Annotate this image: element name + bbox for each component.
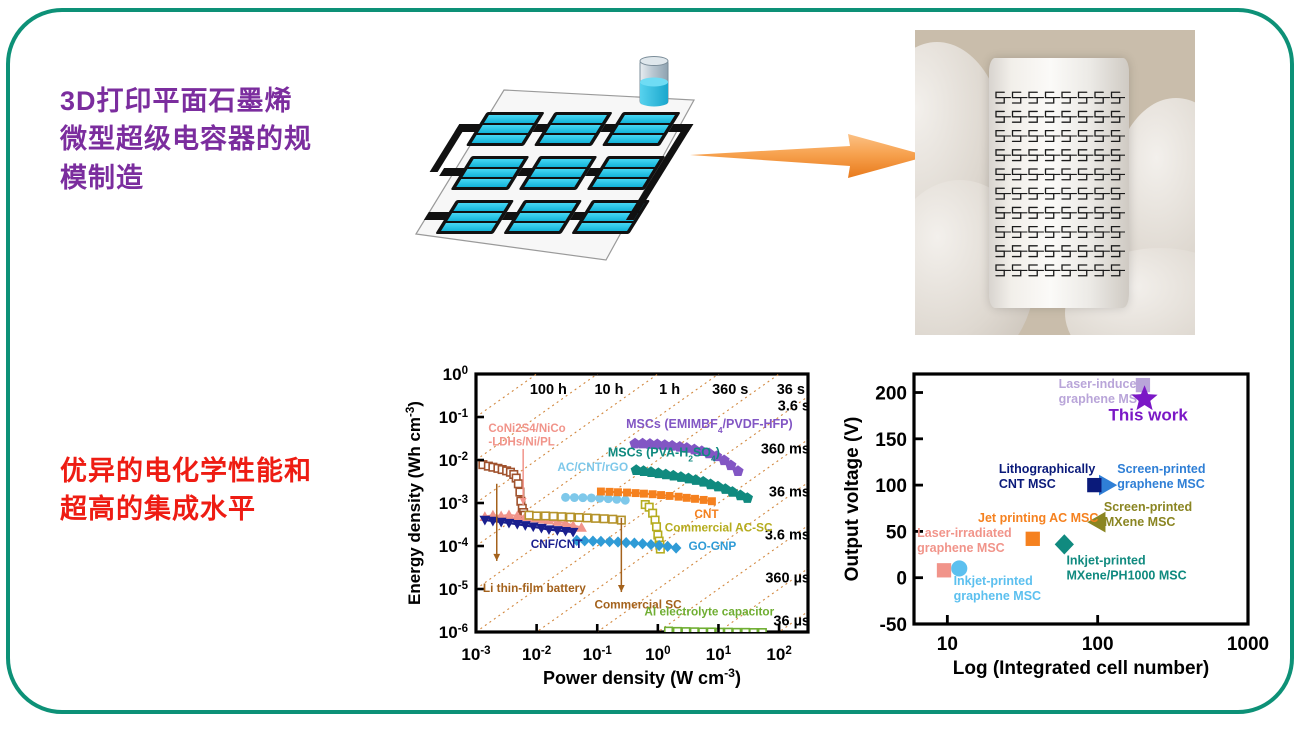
data-point	[657, 491, 665, 499]
annotation-cnt: CNT	[694, 507, 719, 521]
msc-cell-glyph	[1046, 169, 1054, 180]
msc-cell-glyph	[1112, 169, 1120, 180]
data-point	[561, 493, 570, 502]
time-label-top: 100 h	[530, 382, 567, 398]
data-point	[570, 493, 579, 502]
msc-cell-glyph	[1029, 246, 1037, 257]
msc-pattern-row	[996, 227, 1125, 238]
data-point	[567, 513, 574, 520]
msc-cell-glyph	[1062, 150, 1070, 161]
voltage-svg: 101001000-50050100150200Log (Integrated …	[836, 352, 1306, 692]
time-label-right: 36 ms	[769, 484, 810, 500]
time-label-right: 360 µs	[765, 570, 810, 586]
data-point	[691, 628, 698, 635]
msc-pattern-row	[996, 131, 1125, 142]
label-laser-induced-graphene-msc: Laser-induced	[1059, 377, 1144, 391]
label-screen-printed-graphene-msc: graphene MSC	[1117, 477, 1205, 491]
msc-pattern-overlay	[993, 88, 1125, 280]
data-point	[583, 514, 590, 521]
data-point	[700, 496, 708, 504]
label-lithographically-cnt-msc: Lithographically	[999, 462, 1096, 476]
msc-cell-glyph	[1013, 207, 1021, 218]
label-screen-printed-mxene-msc: MXene MSC	[1104, 515, 1176, 529]
data-point	[575, 514, 582, 521]
annotation-coni2s4-nico-ldhs-ni-pl-2: -LDHs/Ni/PL	[488, 436, 554, 448]
msc-cell-glyph	[996, 92, 1004, 103]
msc-pattern-row	[996, 92, 1125, 103]
msc-cell-glyph	[1112, 227, 1120, 238]
data-point	[623, 489, 631, 497]
msc-pattern-row	[996, 207, 1125, 218]
msc-cell-glyph	[1029, 207, 1037, 218]
msc-cell-glyph	[996, 169, 1004, 180]
subheadline-chinese: 优异的电化学性能和 超高的集成水平	[60, 452, 420, 529]
msc-cell-glyph	[1062, 92, 1070, 103]
label-inkjet-printed-mxene-ph1000-msc: MXene/PH1000 MSC	[1066, 569, 1186, 583]
time-label-top: 360 s	[712, 382, 748, 398]
msc-cell-glyph	[1079, 265, 1087, 276]
process-arrow	[690, 128, 940, 184]
msc-cell-glyph	[1079, 150, 1087, 161]
msc-cell-glyph	[1029, 92, 1037, 103]
msc-cell-glyph	[1029, 111, 1037, 122]
msc-cell-group	[404, 112, 704, 234]
msc-cell-glyph	[1095, 265, 1103, 276]
point-lithographically-cnt-msc	[1087, 478, 1101, 492]
headline-line-3: 模制造	[60, 159, 410, 197]
x-axis-title: Log (Integrated cell number)	[953, 658, 1210, 679]
msc-cell-glyph	[996, 150, 1004, 161]
msc-cell-glyph	[1029, 150, 1037, 161]
y-tick-label: 100	[875, 476, 907, 497]
msc-cell-glyph	[1013, 246, 1021, 257]
msc-cell-glyph	[1013, 150, 1021, 161]
msc-cell-glyph	[1013, 265, 1021, 276]
x-tick-label: 101	[706, 645, 732, 664]
y-tick-label: 150	[875, 430, 907, 451]
msc-cell-glyph	[996, 265, 1004, 276]
annotation-al-electrolyte-capacitor: Al electrolyte capacitor	[644, 605, 774, 619]
data-point	[708, 497, 716, 505]
label-inkjet-printed-graphene-msc: Inkjet-printed	[954, 574, 1033, 588]
subheadline-line-1: 优异的电化学性能和	[60, 452, 420, 490]
msc-cell-glyph	[1079, 131, 1087, 142]
x-tick-label: 1000	[1227, 634, 1269, 655]
label-laser-induced-graphene-msc: graphene MSC	[1059, 392, 1147, 406]
data-point	[600, 515, 607, 522]
data-point	[587, 493, 596, 502]
label-inkjet-printed-graphene-msc: graphene MSC	[954, 589, 1042, 603]
label-laser-irradiated-graphene-msc: graphene MSC	[917, 541, 1005, 555]
msc-cell-glyph	[1095, 188, 1103, 199]
data-point	[525, 511, 532, 518]
y-tick-label: 10-2	[439, 451, 468, 470]
y-tick-label: 10-5	[439, 580, 469, 599]
y-tick-label: 10-3	[439, 494, 468, 513]
y-tick-label: 100	[443, 365, 468, 384]
msc-cell-glyph	[1079, 227, 1087, 238]
msc-cell-glyph	[1013, 131, 1021, 142]
headline-line-1: 3D打印平面石墨烯	[60, 82, 410, 120]
data-point	[675, 493, 683, 501]
msc-cell-glyph	[1095, 227, 1103, 238]
time-label-right: 3.6 s	[778, 398, 810, 414]
msc-cell-glyph	[1062, 265, 1070, 276]
time-label-right: 360 ms	[761, 441, 810, 457]
annotation-commercial-ac-sc: Commercial AC-SC	[665, 520, 773, 534]
arrow-svg	[690, 128, 940, 184]
msc-pattern-row	[996, 169, 1125, 180]
data-point	[592, 515, 599, 522]
msc-cell-glyph	[1046, 92, 1054, 103]
msc-cell-glyph	[1112, 246, 1120, 257]
data-point	[653, 523, 660, 530]
y-tick-label: 0	[896, 569, 907, 590]
msc-cell-glyph	[1013, 92, 1021, 103]
label-jet-printing-ac-msc: Jet printing AC MSC	[978, 511, 1098, 525]
schematic-svg	[404, 52, 704, 277]
msc-cell-glyph	[1079, 111, 1087, 122]
msc-cell-glyph	[1112, 150, 1120, 161]
msc-cell-glyph	[1013, 111, 1021, 122]
y-tick-label: -50	[880, 615, 907, 636]
msc-pattern-row	[996, 246, 1125, 257]
label-screen-printed-mxene-msc: Screen-printed	[1104, 500, 1192, 514]
data-point	[699, 628, 706, 635]
x-tick-label: 10-2	[522, 645, 551, 664]
data-point	[606, 488, 614, 496]
data-point	[682, 628, 689, 635]
msc-cell-glyph	[1013, 227, 1021, 238]
graphical-abstract-canvas: 3D打印平面石墨烯 微型超级电容器的规 模制造 优异的电化学性能和 超高的集成水…	[0, 0, 1314, 733]
msc-cell-glyph	[1112, 111, 1120, 122]
msc-cell-glyph	[1046, 227, 1054, 238]
headline-chinese: 3D打印平面石墨烯 微型超级电容器的规 模制造	[60, 82, 410, 197]
data-point	[632, 489, 640, 497]
data-point	[683, 494, 691, 502]
time-label-top: 10 h	[594, 382, 623, 398]
msc-cell-glyph	[1062, 131, 1070, 142]
data-point	[533, 512, 540, 519]
x-tick-label: 10-3	[461, 645, 490, 664]
msc-cell-glyph	[1112, 188, 1120, 199]
x-tick-label: 100	[1082, 634, 1114, 655]
msc-cell-glyph	[1095, 150, 1103, 161]
msc-cell-glyph	[1095, 169, 1103, 180]
msc-cell-glyph	[1112, 131, 1120, 142]
headline-line-2: 微型超级电容器的规	[60, 120, 410, 158]
time-label-right: 36 µs	[773, 613, 810, 629]
annotation-ac-cnt-rgo: AC/CNT/rGO	[557, 460, 628, 474]
x-axis-title: Power density (W cm-3)	[543, 666, 741, 688]
output-voltage-plot: 101001000-50050100150200Log (Integrated …	[836, 352, 1306, 692]
data-point	[621, 496, 630, 505]
msc-cell-glyph	[1029, 169, 1037, 180]
data-point	[542, 512, 549, 519]
y-tick-label: 50	[886, 522, 907, 543]
msc-cell-glyph	[1079, 169, 1087, 180]
ragone-plot: 10-310-210-110010110210010-110-210-310-4…	[404, 352, 824, 692]
y-axis-title: Energy density (Wh cm-3)	[405, 401, 424, 605]
ragone-svg: 10-310-210-110010110210010-110-210-310-4…	[404, 352, 824, 692]
label-this-work: This work	[1108, 405, 1188, 424]
msc-cell-glyph	[1062, 227, 1070, 238]
annotation-go-gnp: GO-GNP	[688, 539, 736, 553]
point-laser-irradiated-graphene-msc	[937, 563, 951, 577]
y-tick-label: 10-1	[439, 408, 469, 427]
data-point	[515, 480, 522, 487]
msc-cell-glyph	[1062, 169, 1070, 180]
msc-array-printing-schematic	[404, 52, 704, 277]
data-point	[640, 490, 648, 498]
y-axis-title: Output voltage (V)	[842, 417, 863, 582]
annotation-coni2s4-nico-ldhs-ni-pl: CoNi2S4/NiCo	[488, 423, 565, 435]
y-tick-label: 10-4	[439, 537, 469, 556]
msc-cell-glyph	[1029, 131, 1037, 142]
label-laser-irradiated-graphene-msc: Laser-irradiated	[917, 526, 1011, 540]
msc-cell-glyph	[1046, 207, 1054, 218]
msc-cell-glyph	[996, 131, 1004, 142]
time-label-top: 36 s	[777, 382, 805, 398]
label-lithographically-cnt-msc: CNT MSC	[999, 477, 1056, 491]
data-point	[665, 627, 672, 634]
msc-pattern-row	[996, 111, 1125, 122]
msc-cell-glyph	[1095, 246, 1103, 257]
msc-cell-glyph	[1062, 111, 1070, 122]
x-tick-label: 10-1	[583, 645, 613, 664]
msc-cell-glyph	[1062, 207, 1070, 218]
msc-cell-glyph	[996, 246, 1004, 257]
x-tick-label: 100	[645, 645, 670, 664]
series-al-electrolyte-capacitor	[665, 627, 766, 636]
data-point	[609, 515, 616, 522]
point-jet-printing-ac-msc	[1026, 532, 1040, 546]
msc-cell-glyph	[1095, 207, 1103, 218]
msc-cell-glyph	[1046, 188, 1054, 199]
data-point	[550, 513, 557, 520]
msc-cell-glyph	[1095, 111, 1103, 122]
msc-cell-glyph	[1095, 92, 1103, 103]
msc-cell-glyph	[1112, 207, 1120, 218]
msc-cell-glyph	[1062, 246, 1070, 257]
msc-cell-glyph	[1046, 265, 1054, 276]
msc-cell-glyph	[1046, 111, 1054, 122]
flexible-msc-array-photograph	[915, 30, 1195, 335]
time-label-top: 1 h	[659, 382, 680, 398]
msc-cell-glyph	[1029, 265, 1037, 276]
x-tick-label: 10	[937, 634, 958, 655]
msc-pattern-row	[996, 150, 1125, 161]
msc-pattern-row	[996, 188, 1125, 199]
print-nozzle-icon	[640, 57, 668, 107]
msc-cell-glyph	[996, 207, 1004, 218]
label-inkjet-printed-mxene-ph1000-msc: Inkjet-printed	[1066, 554, 1145, 568]
msc-cell-glyph	[1046, 131, 1054, 142]
msc-cell-glyph	[1112, 92, 1120, 103]
msc-cell-glyph	[1112, 265, 1120, 276]
data-point	[707, 628, 714, 635]
msc-cell-glyph	[1095, 131, 1103, 142]
data-point	[666, 492, 674, 500]
label-screen-printed-graphene-msc: Screen-printed	[1117, 462, 1205, 476]
data-point	[597, 488, 605, 496]
data-point	[691, 495, 699, 503]
msc-cell-glyph	[1046, 150, 1054, 161]
msc-cell-glyph	[1029, 188, 1037, 199]
msc-cell-glyph	[1013, 169, 1021, 180]
subheadline-line-2: 超高的集成水平	[60, 490, 420, 528]
data-point	[649, 490, 657, 498]
msc-pattern-row	[996, 265, 1125, 276]
msc-cell-glyph	[1029, 227, 1037, 238]
annotation-li-thin-film-battery: Li thin-film battery	[483, 581, 586, 595]
msc-cell-glyph	[1079, 246, 1087, 257]
msc-cell-glyph	[996, 227, 1004, 238]
msc-cell-glyph	[1079, 207, 1087, 218]
data-point	[578, 493, 587, 502]
data-point	[558, 513, 565, 520]
x-tick-label: 102	[766, 645, 791, 664]
y-tick-label: 10-6	[439, 623, 468, 642]
msc-cell-glyph	[1079, 188, 1087, 199]
msc-cell-glyph	[996, 188, 1004, 199]
msc-cell-glyph	[1013, 188, 1021, 199]
msc-cell-glyph	[1062, 188, 1070, 199]
y-tick-label: 200	[875, 384, 907, 405]
data-point	[674, 628, 681, 635]
msc-cell-glyph	[1079, 92, 1087, 103]
annotation-cnf-cnt: CNF/CNT	[531, 537, 584, 551]
msc-cell-glyph	[996, 111, 1004, 122]
data-point	[614, 488, 622, 496]
msc-cell-glyph	[1046, 246, 1054, 257]
